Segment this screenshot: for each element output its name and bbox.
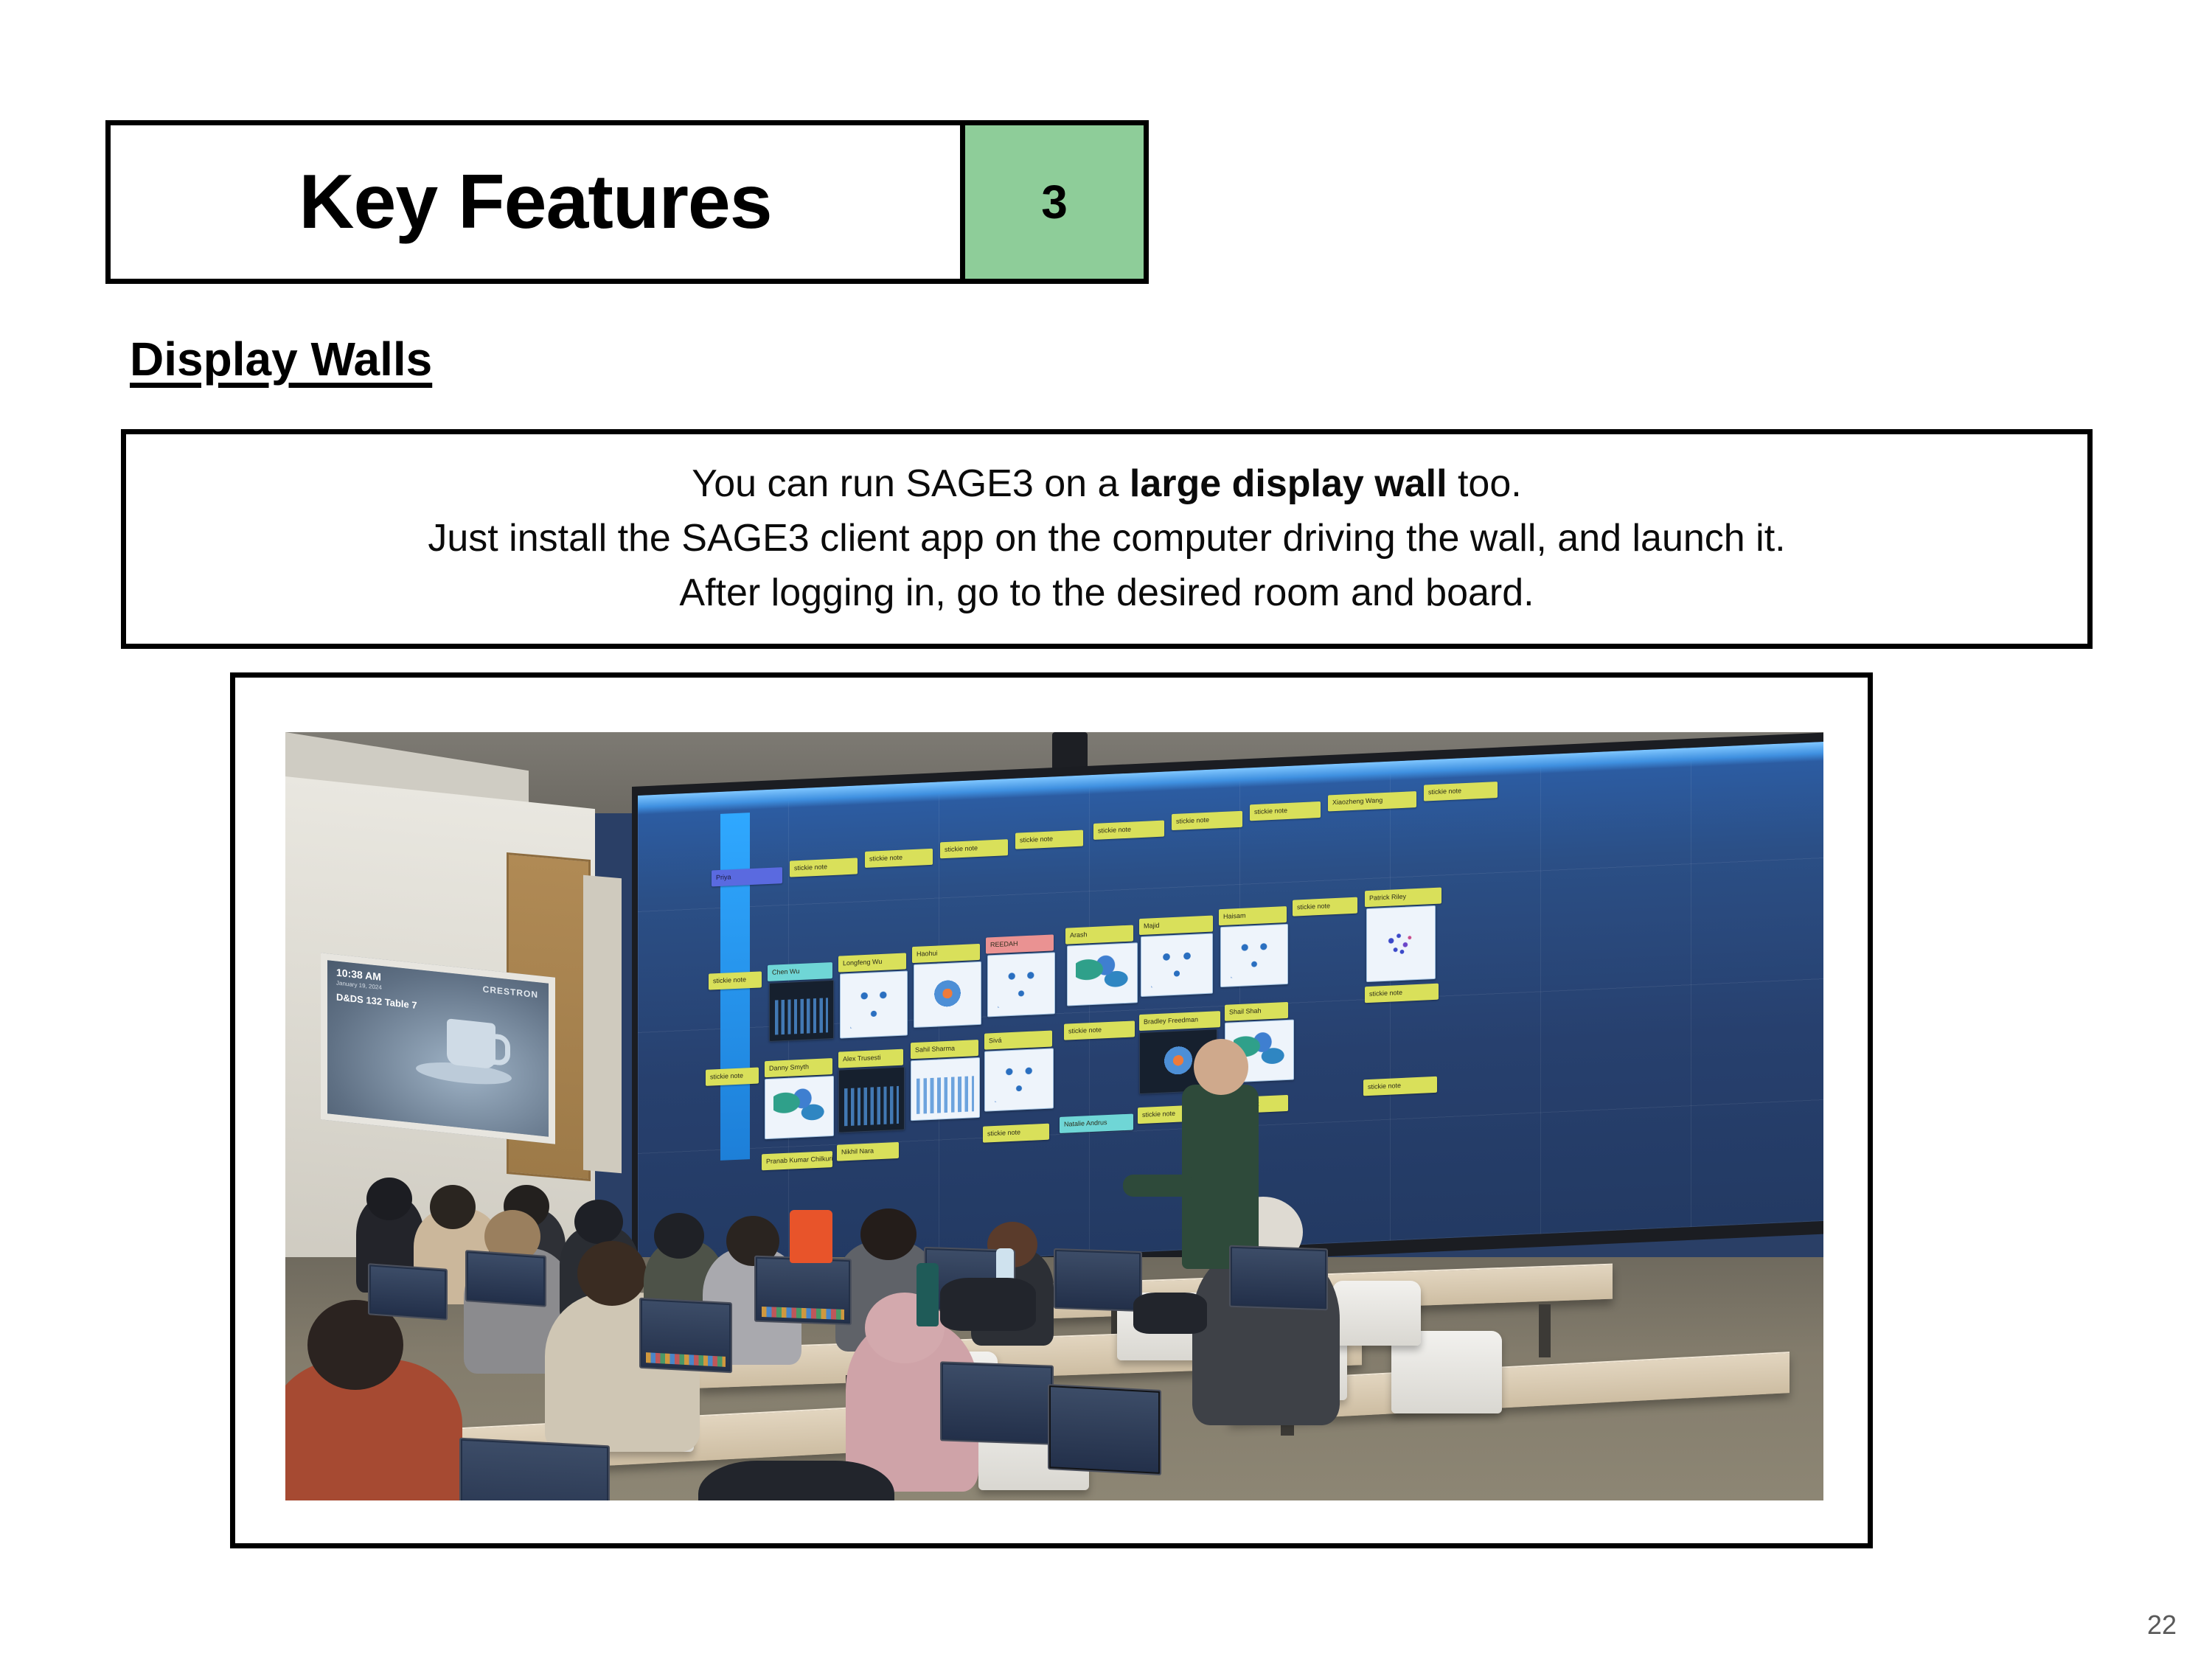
wall-sticky[interactable]: stickie note [706,1068,759,1086]
wall-sticky[interactable]: Nikhil Nara [837,1142,899,1161]
wall-app-window[interactable] [914,961,981,1028]
student-laptop[interactable] [754,1256,852,1326]
slide-title-bar: Key Features 3 [105,120,1149,284]
classroom-display-wall-photo: 10:38 AM January 19, 2024 D&DS 132 Table… [285,732,1823,1500]
wall-app-window[interactable] [1220,924,1288,987]
wall-sticky[interactable]: Shail Shah [1225,1002,1288,1021]
wall-sticky[interactable]: stickie note [1015,830,1083,849]
wall-sticky[interactable]: Natalie Andrus [1060,1113,1133,1133]
crestron-mug-graphic [447,1019,495,1070]
wall-sticky[interactable]: Sivá [984,1030,1052,1049]
student-laptop[interactable] [639,1298,732,1374]
wall-sticky[interactable]: Bradley Freedman [1139,1011,1220,1031]
presenter-body [1182,1085,1259,1269]
person-head [366,1178,412,1220]
desk-leg [1539,1304,1551,1357]
student-laptop-foreground[interactable] [459,1438,610,1500]
person-head [574,1200,623,1244]
crestron-room-panel: 10:38 AM January 19, 2024 D&DS 132 Table… [321,953,555,1144]
wall-sticky[interactable]: Danny Smyth [765,1058,832,1077]
wall-sticky[interactable]: Patrick Riley [1365,888,1441,908]
wall-app-window[interactable] [1366,905,1436,982]
wall-sticky[interactable]: Longfeng Wu [838,953,906,972]
wall-app-window[interactable] [1067,942,1138,1006]
wall-sticky[interactable]: stickie note [790,858,858,877]
wall-app-window[interactable] [769,980,834,1042]
wall-sticky[interactable]: REEDAH [986,934,1054,953]
wall-sticky[interactable]: stickie note [1093,821,1164,840]
water-bottle [917,1263,939,1326]
callout-line-3: After logging in, go to the desired room… [679,566,1534,621]
callout-line-1-after: too. [1447,462,1522,505]
wall-app-window[interactable] [911,1057,980,1121]
photo-frame: 10:38 AM January 19, 2024 D&DS 132 Table… [230,672,1873,1548]
wall-sticky[interactable]: Chen Wu [768,962,832,981]
backpack [1133,1293,1207,1334]
wall-sticky[interactable]: stickie note [865,849,933,868]
section-number-badge: 3 [960,125,1144,279]
wall-sticky[interactable]: Haisam [1219,906,1287,925]
wall-sticky[interactable]: Majid [1139,916,1213,936]
backpack-floor [698,1461,894,1500]
student-laptop[interactable] [1229,1245,1328,1311]
wall-sticky[interactable]: Pranab Kumar Chilkuri [762,1151,832,1170]
backpack [940,1278,1036,1331]
student-laptop[interactable] [1054,1248,1142,1312]
person-head [860,1208,917,1260]
presenter-arm [1123,1175,1194,1197]
wall-sticky[interactable]: stickie note [983,1124,1049,1143]
callout-line-2: Just install the SAGE3 client app on the… [428,512,1785,566]
wall-sticky[interactable]: stickie note [940,839,1008,858]
wall-app-window[interactable] [840,970,908,1038]
wall-app-window[interactable] [765,1076,834,1139]
wall-sticky[interactable]: stickie note [1365,984,1439,1004]
student-laptop[interactable] [940,1361,1054,1444]
wall-sticky[interactable]: stickie note [1172,811,1242,830]
slide-title-cell: Key Features [111,125,960,279]
wall-sticky[interactable]: stickie note [1293,897,1357,917]
student-laptop[interactable] [465,1250,546,1307]
student-tablet[interactable] [1048,1384,1161,1475]
photo-door-side-panel [583,875,622,1174]
classroom-chair [1332,1281,1421,1346]
wall-sticky[interactable]: stickie note [1064,1020,1135,1040]
description-callout-box: You can run SAGE3 on a large display wal… [121,429,2093,649]
page-number: 22 [2147,1612,2177,1638]
person-head [430,1185,476,1229]
wall-sticky[interactable]: stickie note [1363,1077,1437,1096]
wall-sticky[interactable]: stickie note [1250,801,1321,821]
section-number-label: 3 [1041,178,1068,226]
wall-sticky[interactable]: Sahil Sharma [911,1040,978,1059]
wall-sticky[interactable]: Haohui [912,944,980,963]
wall-app-window[interactable] [838,1067,905,1133]
wall-sticky[interactable]: stickie note [1424,782,1498,801]
wall-sticky[interactable]: Xiaozheng Wang [1328,791,1416,811]
wall-app-window[interactable] [987,952,1055,1017]
wall-app-window[interactable] [984,1048,1054,1111]
orange-container [790,1210,832,1263]
wall-sticky[interactable]: Arash [1065,925,1133,944]
student-laptop[interactable] [368,1263,448,1321]
wall-sticky[interactable]: Alex Trusesti [838,1049,903,1068]
wall-app-window[interactable] [1141,933,1213,997]
section-heading: Display Walls [130,333,432,385]
callout-line-1-before: You can run SAGE3 on a [692,462,1130,505]
wall-sticky[interactable]: Priya [712,867,782,886]
presenter-head [1194,1039,1248,1095]
person-head [654,1213,704,1259]
page-title: Key Features [299,164,771,240]
wall-sticky[interactable]: stickie note [709,971,762,990]
person-head [577,1241,647,1306]
callout-line-1: You can run SAGE3 on a large display wal… [692,457,1521,512]
callout-line-1-bold: large display wall [1130,462,1447,505]
